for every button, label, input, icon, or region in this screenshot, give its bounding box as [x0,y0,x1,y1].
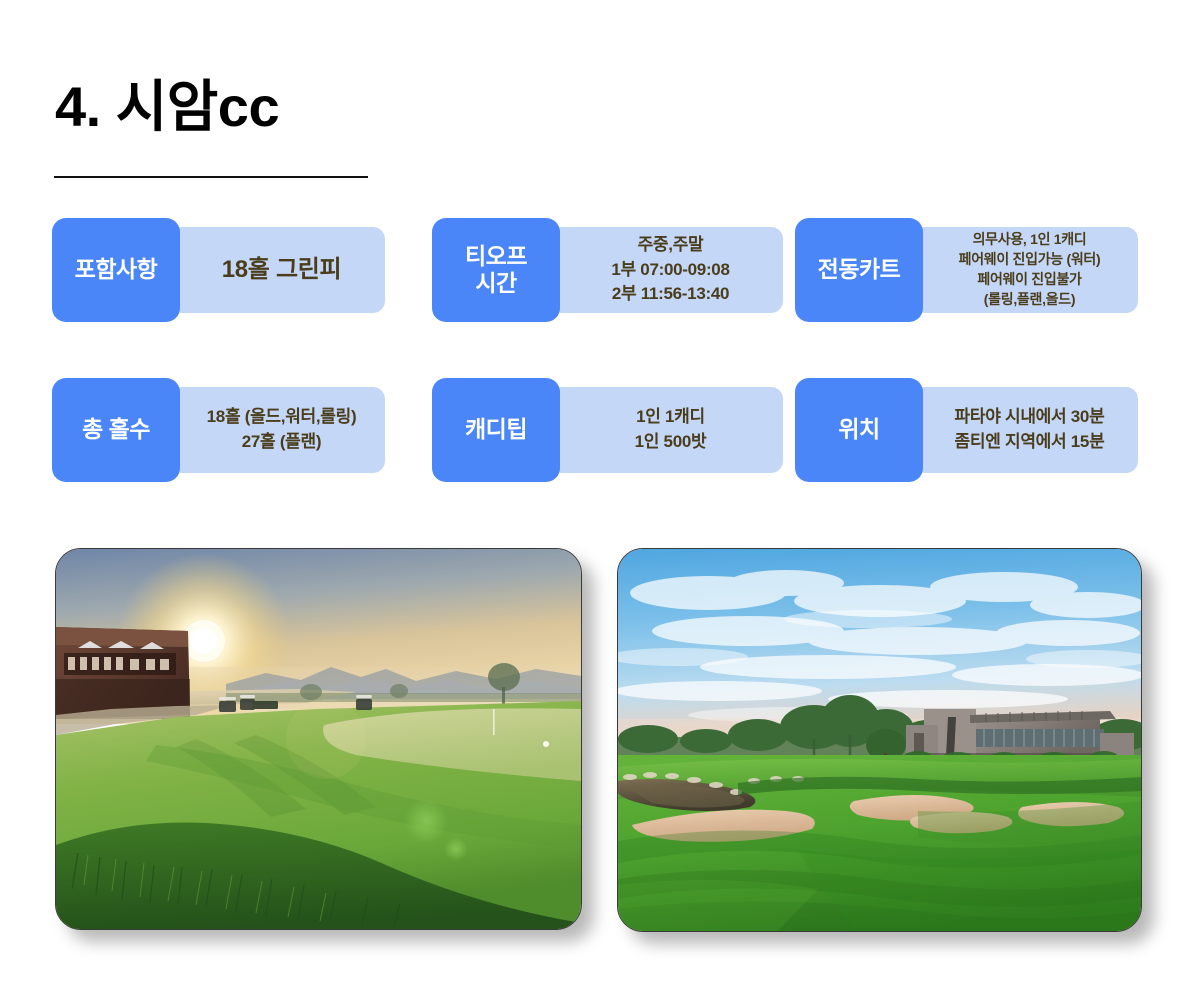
info-card-value: 1인 1캐디 1인 500밧 [550,387,783,473]
info-card-included: 포함사항 18홀 그린피 [52,218,385,322]
info-card-label: 위치 [795,378,923,482]
info-card-value: 의무사용, 1인 1캐디 페어웨이 진입가능 (워터) 페어웨이 진입불가 (롤… [913,227,1138,313]
info-card-label: 총 홀수 [52,378,180,482]
info-card-label: 전동카트 [795,218,923,322]
info-card-location: 위치 파타야 시내에서 30분 좀티엔 지역에서 15분 [795,378,1138,482]
info-card-caddie-tip: 캐디팁 1인 1캐디 1인 500밧 [432,378,783,482]
info-card-electric-cart: 전동카트 의무사용, 1인 1캐디 페어웨이 진입가능 (워터) 페어웨이 진입… [795,218,1138,322]
course-photo-clubhouse-graphic [618,549,1141,931]
info-card-teeoff-time: 티오프 시간 주중,주말 1부 07:00-09:08 2부 11:56-13:… [432,218,783,322]
course-photo-sunset-graphic [56,549,581,929]
info-card-label: 티오프 시간 [432,218,560,322]
info-card-value: 파타야 시내에서 30분 좀티엔 지역에서 15분 [913,387,1138,473]
info-card-total-holes: 총 홀수 18홀 (올드,워터,롤링) 27홀 (플랜) [52,378,385,482]
info-card-label: 캐디팁 [432,378,560,482]
info-card-label: 포함사항 [52,218,180,322]
course-photo-sunset [55,548,582,930]
info-card-value: 18홀 그린피 [170,227,385,313]
course-photo-clubhouse [617,548,1142,932]
info-card-grid: 포함사항 18홀 그린피 티오프 시간 주중,주말 1부 07:00-09:08… [0,0,1200,520]
info-card-value: 18홀 (올드,워터,롤링) 27홀 (플랜) [170,387,385,473]
info-card-value: 주중,주말 1부 07:00-09:08 2부 11:56-13:40 [550,227,783,313]
